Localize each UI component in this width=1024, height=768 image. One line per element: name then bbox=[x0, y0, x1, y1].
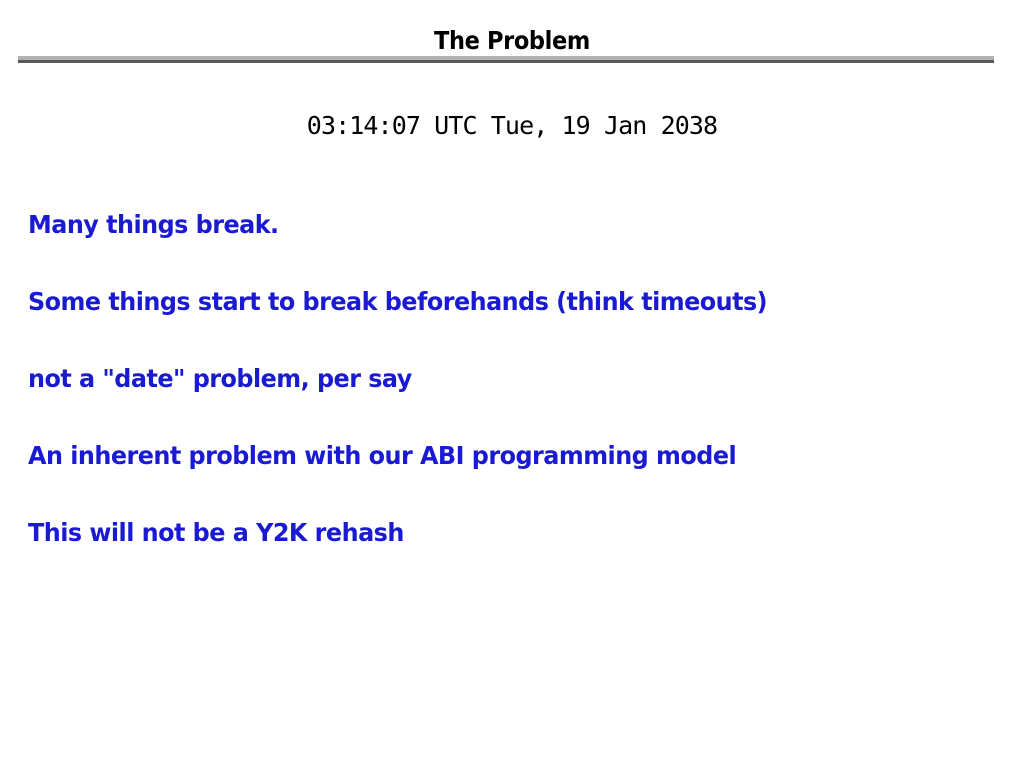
presentation-slide: The Problem 03:14:07 UTC Tue, 19 Jan 203… bbox=[0, 0, 1024, 768]
body-line-2: Some things start to break beforehands (… bbox=[28, 263, 964, 340]
body-line-1: Many things break. bbox=[28, 186, 964, 263]
body-line-3: not a "date" problem, per say bbox=[28, 340, 964, 417]
title-divider-rule bbox=[18, 56, 994, 63]
body-line-5: This will not be a Y2K rehash bbox=[28, 494, 964, 571]
body-line-4: An inherent problem with our ABI program… bbox=[28, 417, 964, 494]
divider-shadow bbox=[18, 60, 994, 63]
slide-body-list: Many things break. Some things start to … bbox=[28, 186, 1008, 571]
timestamp-text: 03:14:07 UTC Tue, 19 Jan 2038 bbox=[0, 110, 1024, 142]
page-title: The Problem bbox=[51, 26, 973, 56]
